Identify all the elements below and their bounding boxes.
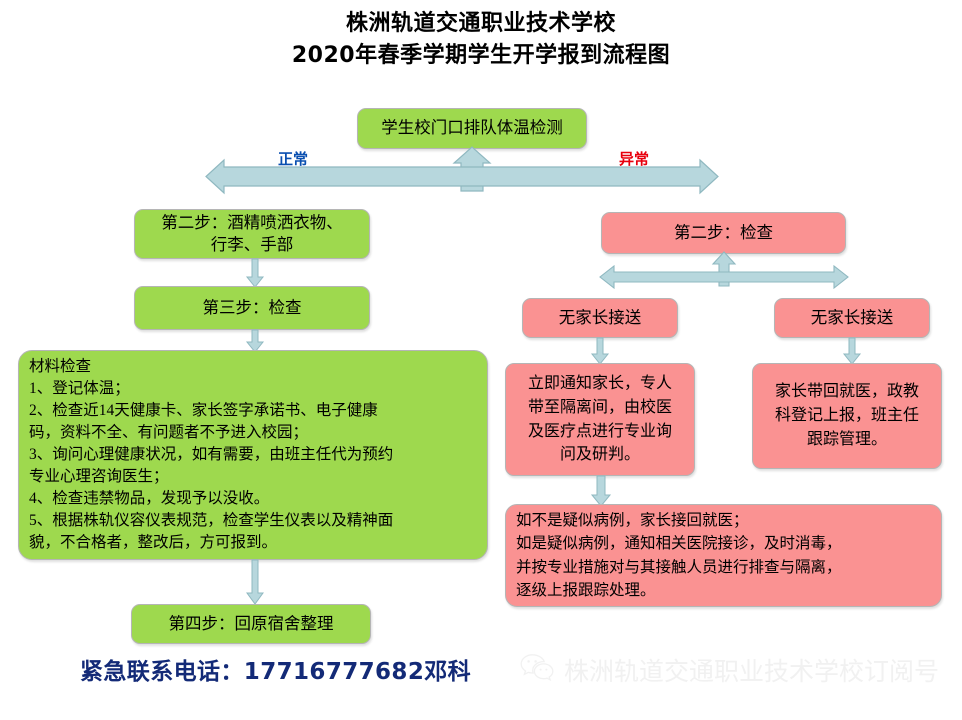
branch-label-abnormal: 异常 [619,148,649,169]
wechat-watermark-text: 株洲轨道交通职业技术学校订阅号 [564,652,939,688]
node-right-action-right-label: 家长带回就医，政教 科登记上报，班主任 跟踪管理。 [753,380,941,451]
node-left-step3-label: 第三步：检查 [135,297,369,319]
title-line-2: 2020年春季学期学生开学报到流程图 [0,40,962,72]
node-right-action-left[interactable]: 立即通知家长，专人 带至隔离间，由校医 及医疗点进行专业询 问及研判。 [505,363,695,476]
emergency-contact: 紧急联系电话：17716777682邓科 [80,652,471,686]
page-title: 株洲轨道交通职业技术学校 2020年春季学期学生开学报到流程图 [0,8,962,72]
node-right-action-left-label: 立即通知家长，专人 带至隔离间，由校医 及医疗点进行专业询 问及研判。 [506,372,694,467]
node-right-option-right[interactable]: 无家长接送 [774,298,930,338]
connector-left-step3-to-materials [245,330,265,352]
node-left-step4[interactable]: 第四步：回原宿舍整理 [131,604,371,644]
node-final-note[interactable]: 如不是疑似病例，家长接回就医； 如是疑似病例，通知相关医院接诊，及时消毒， 并按… [505,504,942,607]
node-right-option-right-label: 无家长接送 [775,307,929,329]
node-right-step2[interactable]: 第二步：检查 [601,212,846,254]
node-start-temperature-check[interactable]: 学生校门口排队体温检测 [357,108,587,149]
wechat-watermark: 株洲轨道交通职业技术学校订阅号 [520,652,939,688]
connector-materials-to-step4 [245,560,265,604]
branch-label-normal: 正常 [278,148,308,169]
node-right-option-left[interactable]: 无家长接送 [522,298,678,338]
node-material-check[interactable]: 材料检查 1、登记体温； 2、检查近14天健康卡、家长签字承诺书、电子健康 码，… [18,350,488,560]
node-left-step3[interactable]: 第三步：检查 [134,286,370,330]
connector-option-right-to-action [843,338,861,364]
node-final-note-label: 如不是疑似病例，家长接回就医； 如是疑似病例，通知相关医院接诊，及时消毒， 并按… [506,509,941,602]
wechat-icon [520,653,554,687]
connector-option-left-to-action [591,338,609,364]
split-arrow-right [600,252,848,290]
node-left-step2-label: 第二步：酒精喷洒衣物、 行李、手部 [135,212,369,257]
node-left-step4-label: 第四步：回原宿舍整理 [132,613,370,635]
node-start-label: 学生校门口排队体温检测 [358,117,586,139]
flowchart-canvas: 株洲轨道交通职业技术学校 2020年春季学期学生开学报到流程图 学生校门口排队体… [0,0,962,720]
title-line-1: 株洲轨道交通职业技术学校 [0,8,962,40]
node-material-check-label: 材料检查 1、登记体温； 2、检查近14天健康卡、家长签字承诺书、电子健康 码，… [19,356,487,554]
node-right-option-left-label: 无家长接送 [523,307,677,329]
connector-left-step2-to-step3 [245,259,265,287]
node-left-step2[interactable]: 第二步：酒精喷洒衣物、 行李、手部 [134,209,370,259]
node-right-step2-label: 第二步：检查 [602,222,845,244]
node-right-action-right[interactable]: 家长带回就医，政教 科登记上报，班主任 跟踪管理。 [752,363,942,469]
connector-action-left-to-final-note [591,476,611,506]
